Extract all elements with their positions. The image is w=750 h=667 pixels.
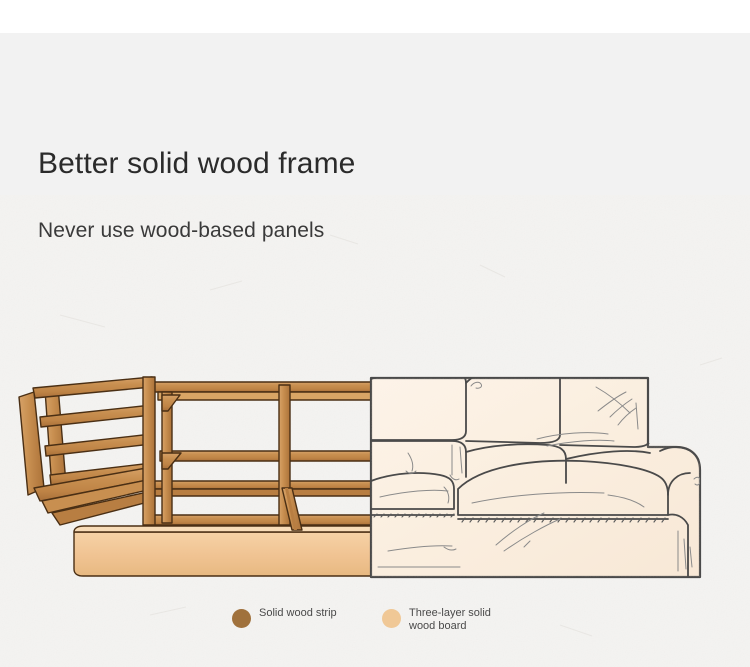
legend-item-three-layer-board: Three-layer solid wood board	[382, 607, 519, 633]
base-board	[74, 526, 371, 576]
wood-frame-group	[19, 377, 371, 576]
legend-item-solid-wood-strip: Solid wood strip	[232, 607, 382, 628]
sofa-group	[371, 365, 700, 577]
legend-swatch-three-layer-board	[382, 609, 401, 628]
legend-label-three-layer-board: Three-layer solid wood board	[409, 607, 519, 633]
product-feature-panel: Better solid wood frame Never use wood-b…	[0, 0, 750, 667]
left-arm-slat-panel	[19, 377, 152, 525]
page-title: Better solid wood frame	[38, 147, 355, 181]
page-subtitle: Never use wood-based panels	[38, 219, 324, 243]
background-band-top	[0, 0, 750, 33]
legend-swatch-solid-wood-strip	[232, 609, 251, 628]
legend-label-solid-wood-strip: Solid wood strip	[259, 607, 337, 620]
arm-back-post	[143, 377, 155, 525]
legend: Solid wood strip Three-layer solid wood …	[232, 607, 519, 633]
sofa-frame-cutaway-diagram	[0, 355, 750, 595]
